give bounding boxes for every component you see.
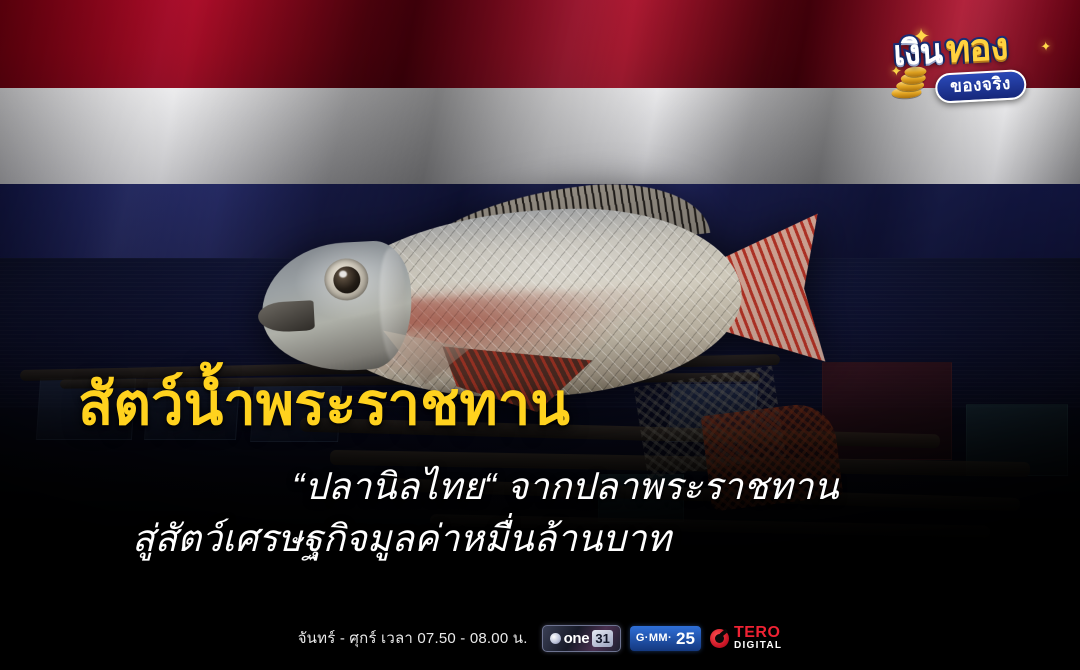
subtitle-line-2: สู่สัตว์เศรษฐกิจมูลค่าหมื่นล้านบาท xyxy=(132,518,671,559)
program-logo-word-silver: เงิน xyxy=(893,34,943,70)
subtitle-line-1: “ปลานิลไทย“ จากปลาพระราชทาน xyxy=(292,466,839,507)
tero-wordmark-group: TERO DIGITAL xyxy=(734,625,782,651)
program-logo-word-gold: ทอง xyxy=(945,28,1009,68)
channel-logo-one31[interactable]: one 31 xyxy=(542,625,621,652)
tero-swirl-icon xyxy=(710,629,729,648)
program-logo-subtitle-banner: ของจริง xyxy=(935,69,1027,104)
one31-dot-icon xyxy=(550,633,561,644)
broadcast-info-bar: จันทร์ - ศุกร์ เวลา 07.50 - 08.00 น. one… xyxy=(0,606,1080,670)
page-title: สัตว์น้ำพระราชทาน xyxy=(78,374,570,437)
tero-subword: DIGITAL xyxy=(734,641,782,651)
program-logo-subtitle: ของจริง xyxy=(950,74,1011,96)
program-logo[interactable]: ✦ ✦ ✦ เงิน ทอง ของจริง xyxy=(878,9,1059,114)
fish-eye-pupil xyxy=(333,266,361,294)
gmm25-wordmark: G·MM· xyxy=(636,633,672,644)
one31-number: 31 xyxy=(592,630,612,647)
channel-logo-gmm25[interactable]: G·MM· 25 xyxy=(630,626,701,651)
sparkle-icon: ✦ xyxy=(1040,40,1052,54)
program-logo-title: เงิน ทอง xyxy=(892,28,1008,71)
tero-wordmark: TERO xyxy=(734,625,782,641)
gmm25-number: 25 xyxy=(676,630,695,647)
one31-wordmark: one xyxy=(564,631,590,646)
channel-logo-tero-digital[interactable]: TERO DIGITAL xyxy=(710,625,782,651)
poster-canvas: ✦ ✦ ✦ เงิน ทอง ของจริง สัตว์น้ำพระราชทาน… xyxy=(0,0,1080,670)
airtime-label: จันทร์ - ศุกร์ เวลา 07.50 - 08.00 น. xyxy=(298,626,528,650)
